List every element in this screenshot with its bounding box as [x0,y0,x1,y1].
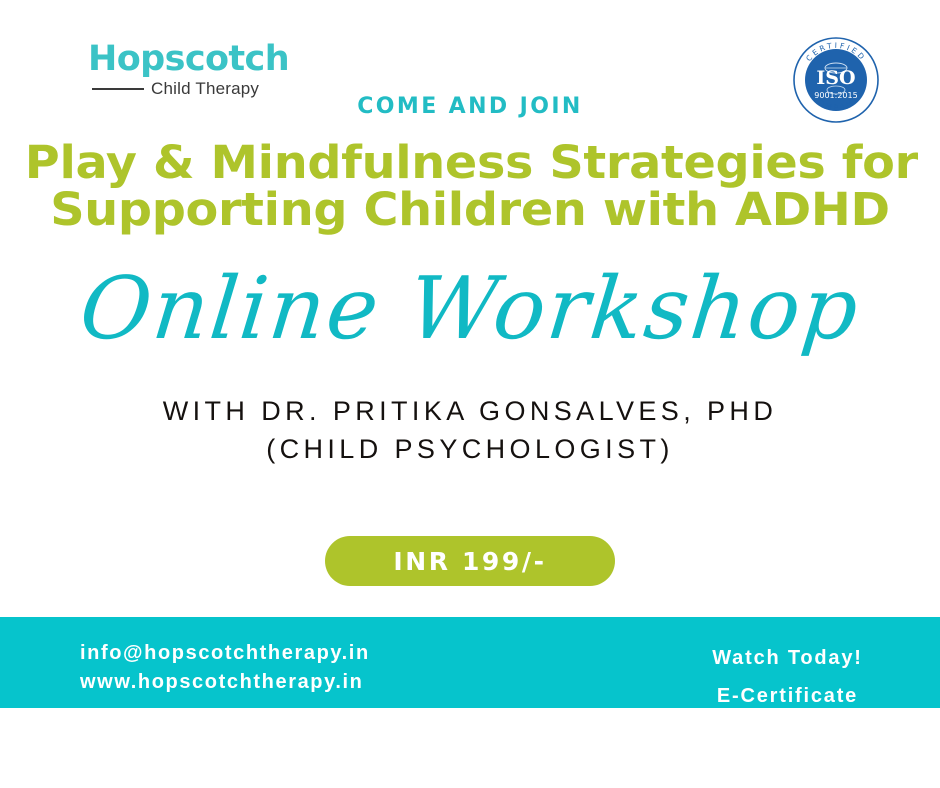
footer-contact-block: info@hopscotchtherapy.in www.hopscotchth… [80,639,370,697]
footer-cta-block: Watch Today! E-Certificate [645,639,930,715]
brand-name: Hopscotch [88,42,348,77]
logo-rule-divider [92,88,144,90]
price-badge[interactable]: INR 199/- [325,536,615,586]
footer-cta-label: Watch Today! [645,639,930,677]
presenter-name: WITH DR. PRITIKA GONSALVES, PHD [0,392,940,430]
presenter-credential: (CHILD PSYCHOLOGIST) [0,430,940,468]
headline-line-2: Supporting Children with ADHD [25,187,915,234]
footer-bar: info@hopscotchtherapy.in www.hopscotchth… [0,617,940,708]
footer-certificate-label: E-Certificate [645,677,930,715]
price-label: INR 199/- [393,547,546,576]
page-title: Play & Mindfulness Strategies for Suppor… [25,140,915,234]
brand-logo: Hopscotch Child Therapy [88,42,348,97]
presenter-block: WITH DR. PRITIKA GONSALVES, PHD (CHILD P… [0,392,940,469]
kicker-text: COME AND JOIN [0,94,940,119]
headline-line-1: Play & Mindfulness Strategies for [25,140,915,187]
script-subtitle: Online Workshop [0,262,940,357]
footer-website[interactable]: www.hopscotchtherapy.in [80,668,370,697]
footer-email[interactable]: info@hopscotchtherapy.in [80,639,370,668]
workshop-flyer: Hopscotch Child Therapy CERTIFIED COMPAN… [0,0,940,788]
